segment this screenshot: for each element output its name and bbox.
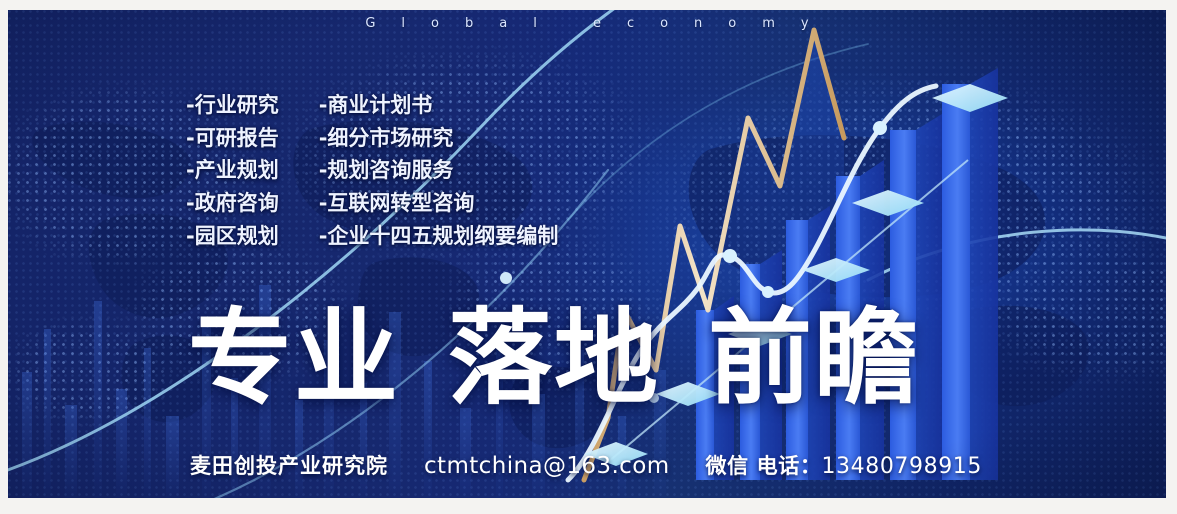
services-column-right: -商业计划书 -细分市场研究 -规划咨询服务 -互联网转型咨询 -企业十四五规划… bbox=[319, 92, 559, 251]
email-address: ctmtchina@163.com bbox=[424, 453, 670, 479]
phone-number: 13480798915 bbox=[821, 454, 982, 479]
service-item: -企业十四五规划纲要编制 bbox=[319, 223, 559, 251]
headline: 专业 落地 前瞻 bbox=[188, 306, 920, 410]
service-item: -可研报告 bbox=[186, 125, 279, 153]
banner-root: Global economy -行业研究 -可研报告 -产业规划 -政府咨询 -… bbox=[0, 0, 1177, 514]
organization-name: 麦田创投产业研究院 bbox=[190, 450, 388, 480]
service-item: -政府咨询 bbox=[186, 190, 279, 218]
contact-label: 微信 电话： bbox=[706, 454, 822, 478]
contact-info: 微信 电话：13480798915 bbox=[706, 450, 983, 480]
services-lists: -行业研究 -可研报告 -产业规划 -政府咨询 -园区规划 -商业计划书 -细分… bbox=[186, 92, 558, 251]
services-column-left: -行业研究 -可研报告 -产业规划 -政府咨询 -园区规划 bbox=[186, 92, 279, 251]
service-item: -产业规划 bbox=[186, 157, 279, 185]
kicker-text: Global economy bbox=[8, 16, 1166, 31]
growth-chart bbox=[8, 10, 1166, 498]
service-item: -园区规划 bbox=[186, 223, 279, 251]
banner-artwork: Global economy -行业研究 -可研报告 -产业规划 -政府咨询 -… bbox=[8, 10, 1166, 498]
headline-word-2: 落地 bbox=[448, 306, 660, 410]
service-item: -细分市场研究 bbox=[319, 125, 559, 153]
service-item: -行业研究 bbox=[186, 92, 279, 120]
headline-word-3: 前瞻 bbox=[708, 306, 920, 410]
footer-contact-line: 麦田创投产业研究院 ctmtchina@163.com 微信 电话：134807… bbox=[190, 450, 982, 480]
headline-word-1: 专业 bbox=[188, 306, 400, 410]
service-item: -商业计划书 bbox=[319, 92, 559, 120]
service-item: -规划咨询服务 bbox=[319, 157, 559, 185]
service-item: -互联网转型咨询 bbox=[319, 190, 559, 218]
